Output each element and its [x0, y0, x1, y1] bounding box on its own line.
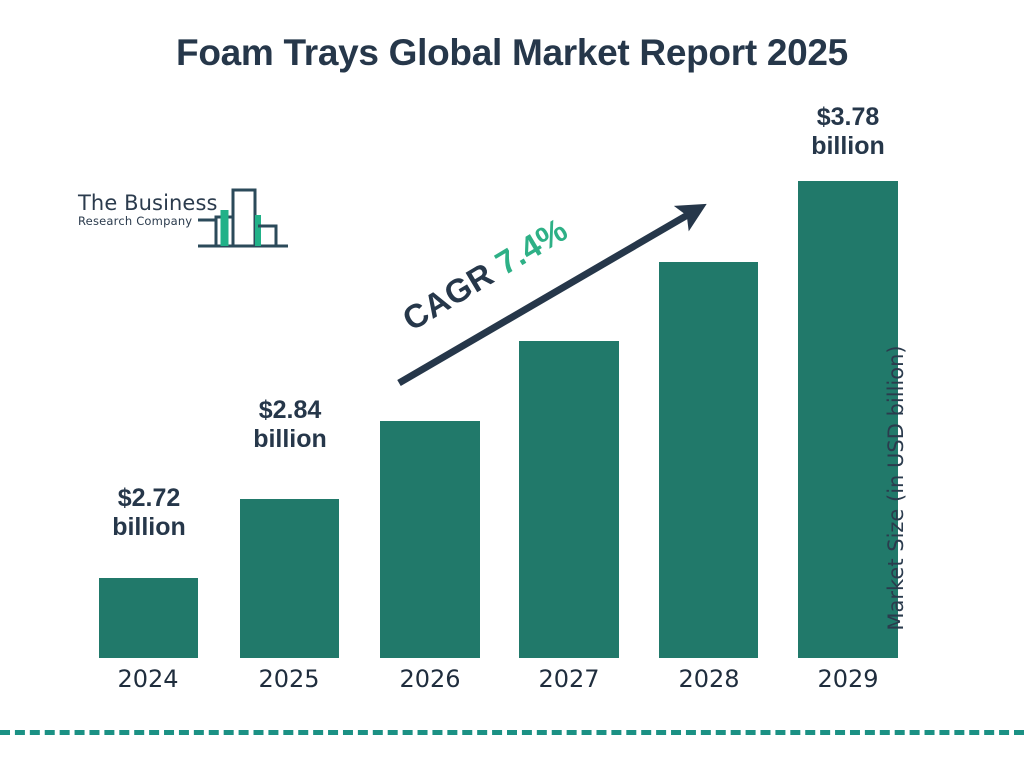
chart-canvas: Foam Trays Global Market Report 2025 The… — [0, 0, 1024, 768]
y-axis-title: Market Size (in USD billion) — [884, 318, 908, 658]
value-label-2025: $2.84 billion — [200, 396, 380, 455]
x-tick-2024: 2024 — [88, 665, 208, 693]
x-tick-2029: 2029 — [788, 665, 908, 693]
bar-2025[interactable] — [240, 499, 339, 658]
x-tick-2026: 2026 — [370, 665, 490, 693]
cagr-value: 7.4% — [489, 211, 574, 282]
footer-divider — [0, 730, 1024, 735]
cagr-annotation: CAGR 7.4% — [396, 211, 574, 339]
bar-2026[interactable] — [380, 421, 480, 658]
bar-2027[interactable] — [519, 341, 619, 658]
value-label-2024: $2.72 billion — [79, 484, 219, 543]
cagr-label: CAGR — [396, 255, 500, 338]
x-tick-2027: 2027 — [509, 665, 629, 693]
x-tick-2025: 2025 — [229, 665, 349, 693]
bar-chart-plot-area: $2.72 billion $2.84 billion $3.78 billio… — [0, 0, 1024, 768]
bar-2029[interactable] — [798, 181, 898, 658]
value-label-2029: $3.78 billion — [778, 103, 918, 162]
x-tick-2028: 2028 — [649, 665, 769, 693]
bar-2024[interactable] — [99, 578, 198, 658]
bar-2028[interactable] — [659, 262, 758, 658]
